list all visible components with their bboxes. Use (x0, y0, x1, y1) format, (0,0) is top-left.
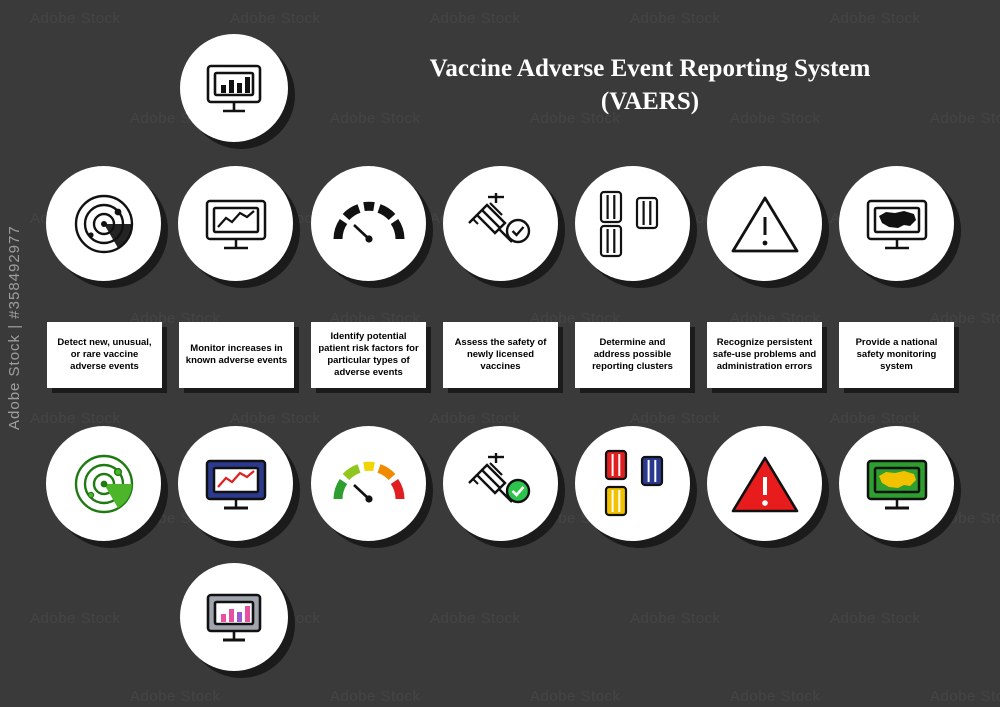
gauge-icon (330, 449, 408, 519)
icon-circle-warning-outline[interactable] (707, 166, 822, 281)
icon-circle-gauge-color[interactable] (311, 426, 426, 541)
watermark: Adobe Stock (630, 10, 721, 27)
label-box-clusters: Determine and address possible reporting… (575, 322, 690, 388)
watermark: Adobe Stock (130, 688, 221, 705)
watermark: Adobe Stock (230, 410, 321, 427)
poster-canvas: Adobe Stock Adobe Stock Adobe Stock Adob… (0, 0, 1000, 707)
icon-circle-radar-color[interactable] (46, 426, 161, 541)
icon-circle-syringe-check-outline[interactable] (443, 166, 558, 281)
watermark: Adobe Stock (30, 610, 121, 627)
label-box-risk-factors: Identify potential patient risk factors … (311, 322, 426, 388)
icon-circle-monitor-line-chart-color[interactable] (178, 426, 293, 541)
monitor-line-chart-icon (201, 189, 271, 259)
icon-circle-gauge-outline[interactable] (311, 166, 426, 281)
page-title-line1: Vaccine Adverse Event Reporting System (430, 55, 871, 82)
icon-circle-vaccine-vials-outline[interactable] (575, 166, 690, 281)
icon-circle-monitor-usa-map-outline[interactable] (839, 166, 954, 281)
watermark: Adobe Stock (430, 10, 521, 27)
monitor-usa-map-icon (862, 449, 932, 519)
monitor-bar-chart-icon (202, 585, 266, 649)
page-title-line2: (VAERS) (320, 85, 980, 118)
watermark: Adobe Stock (830, 610, 921, 627)
syringe-check-icon (464, 447, 538, 521)
label-box-national-system: Provide a national safety monitoring sys… (839, 322, 954, 388)
watermark: Adobe Stock (530, 688, 621, 705)
watermark: Adobe Stock (430, 410, 521, 427)
watermark: Adobe Stock (430, 610, 521, 627)
watermark: Adobe Stock (630, 610, 721, 627)
watermark: Adobe Stock (330, 688, 421, 705)
radar-icon (68, 188, 140, 260)
icon-circle-syringe-check-color[interactable] (443, 426, 558, 541)
footer-icon-monitor-bar-chart-color[interactable] (180, 563, 288, 671)
label-box-assess-safety: Assess the safety of newly licensed vacc… (443, 322, 558, 388)
vaccine-vials-icon (595, 448, 671, 520)
icon-circle-vaccine-vials-color[interactable] (575, 426, 690, 541)
watermark: Adobe Stock (830, 410, 921, 427)
warning-triangle-icon (729, 191, 801, 257)
monitor-bar-chart-icon (202, 56, 266, 120)
label-box-monitor: Monitor increases in known adverse event… (179, 322, 294, 388)
icon-circle-warning-color[interactable] (707, 426, 822, 541)
watermark: Adobe Stock (30, 10, 121, 27)
monitor-usa-map-icon (862, 189, 932, 259)
warning-triangle-icon (729, 451, 801, 517)
watermark: Adobe Stock (630, 410, 721, 427)
hero-icon-monitor-bar-chart[interactable] (180, 34, 288, 142)
label-box-safe-use: Recognize persistent safe-use problems a… (707, 322, 822, 388)
watermark: Adobe Stock (30, 410, 121, 427)
icon-circle-monitor-usa-map-color[interactable] (839, 426, 954, 541)
label-box-detect: Detect new, unusual, or rare vaccine adv… (47, 322, 162, 388)
watermark: Adobe Stock (230, 10, 321, 27)
stock-id-label: Adobe Stock | #358492977 (6, 225, 23, 430)
icon-circle-monitor-line-chart-outline[interactable] (178, 166, 293, 281)
watermark: Adobe Stock (730, 688, 821, 705)
watermark: Adobe Stock (830, 10, 921, 27)
syringe-check-icon (464, 187, 538, 261)
vaccine-vials-icon (595, 188, 671, 260)
radar-icon (68, 448, 140, 520)
page-title: Vaccine Adverse Event Reporting System (… (320, 52, 980, 118)
icon-circle-radar-outline[interactable] (46, 166, 161, 281)
monitor-line-chart-icon (201, 449, 271, 519)
watermark: Adobe Stock (930, 688, 1000, 705)
gauge-icon (330, 189, 408, 259)
